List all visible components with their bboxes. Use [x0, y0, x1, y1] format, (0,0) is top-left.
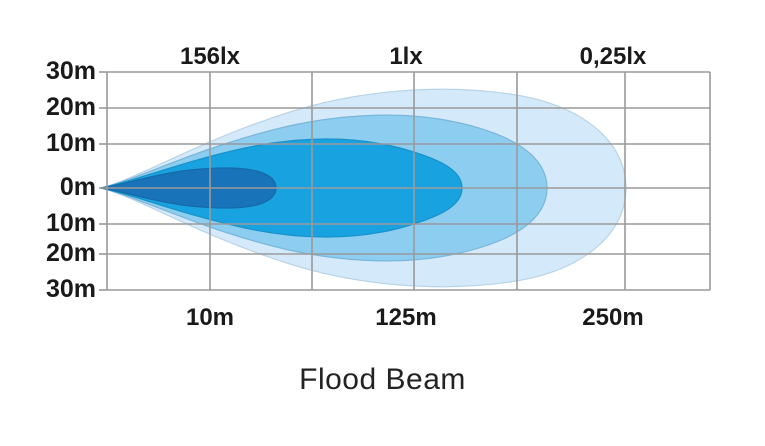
y-axis-label-30m-top: 30m	[4, 59, 96, 84]
y-axis-label-20m-top: 20m	[4, 95, 96, 120]
y-axis-label-10m-bottom: 10m	[4, 211, 96, 236]
y-axis-ticks	[99, 72, 107, 290]
y-axis-label-20m-bottom: 20m	[4, 241, 96, 266]
bottom-label-125m: 125m	[375, 306, 436, 330]
bottom-label-10m: 10m	[186, 306, 234, 330]
flood-beam-diagram: 30m 20m 10m 0m 10m 20m 30m 156lx 1lx 0,2…	[0, 0, 765, 446]
y-axis-label-10m-top: 10m	[4, 131, 96, 156]
bottom-label-250m: 250m	[582, 306, 643, 330]
top-label-1lx: 1lx	[389, 45, 422, 69]
top-label-025lx: 0,25lx	[580, 45, 647, 69]
top-label-156lx: 156lx	[180, 45, 240, 69]
y-axis-label-0m: 0m	[4, 175, 96, 200]
chart-caption: Flood Beam	[0, 363, 765, 397]
y-axis-label-30m-bottom: 30m	[4, 277, 96, 302]
